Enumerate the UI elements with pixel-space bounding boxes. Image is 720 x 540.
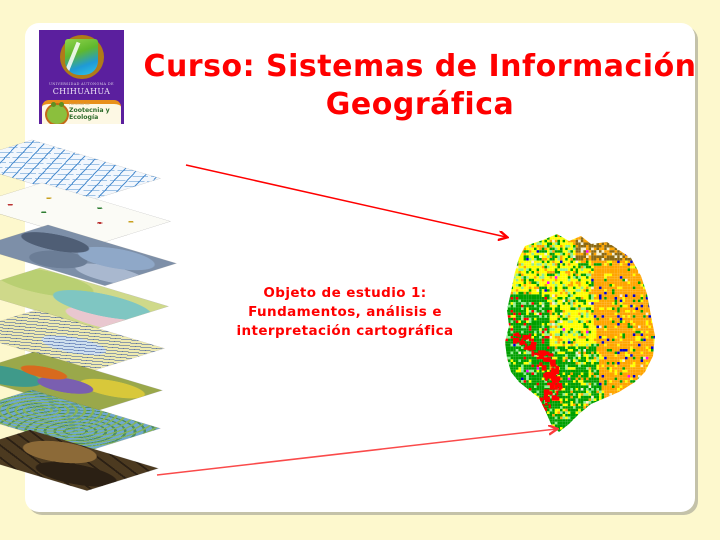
crest-shield-icon	[65, 39, 98, 75]
bolivia-map-svg	[495, 232, 670, 437]
slide-title-line2: Geográfica	[140, 86, 700, 124]
objective-text: Objeto de estudio 1: Fundamentos, anális…	[205, 284, 485, 341]
university-crest-icon	[60, 35, 104, 79]
slide-root: UNIVERSIDAD AUTONOMA DE CHIHUAHUA Facult…	[0, 0, 720, 540]
university-prefix-text: UNIVERSIDAD AUTONOMA DE	[39, 82, 124, 86]
bolivia-land-cover-map	[495, 232, 670, 437]
faculty-name-text: Zootecnia y Ecología	[69, 107, 121, 121]
gis-map-layer-stack	[30, 140, 195, 490]
university-name-text: CHIHUAHUA	[39, 87, 124, 96]
objective-line2: Fundamentos, análisis e	[205, 303, 485, 322]
university-logo: UNIVERSIDAD AUTONOMA DE CHIHUAHUA Facult…	[39, 30, 124, 124]
objective-line1: Objeto de estudio 1:	[205, 284, 485, 303]
faculty-prefix-text: Facultad de	[69, 102, 90, 106]
frog-icon	[45, 103, 69, 124]
objective-line3: interpretación cartográfica	[205, 322, 485, 341]
slide-title: Curso: Sistemas de Información Geográfic…	[140, 48, 700, 124]
slide-title-line1: Curso: Sistemas de Información	[140, 48, 700, 86]
